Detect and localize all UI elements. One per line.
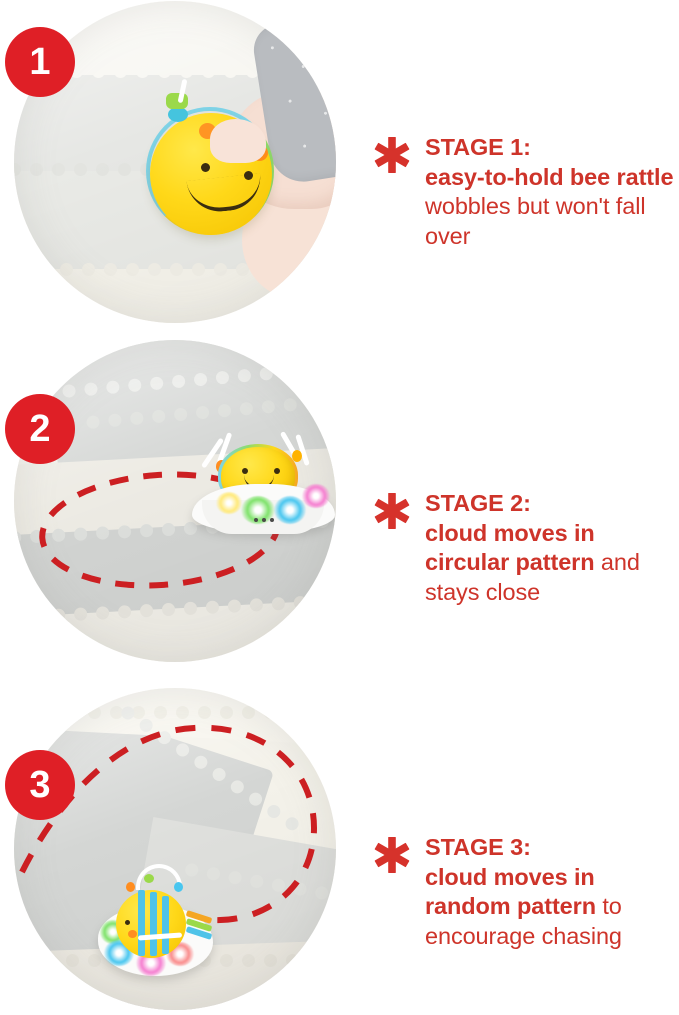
stage-3-copy: STAGE 3: cloud moves in random pattern t… [425, 833, 674, 951]
stage-1-badge: 1 [5, 27, 75, 97]
stage-1-badge-number: 1 [29, 43, 50, 81]
stage-row-3: 3 STAGE 3: cloud moves in random pattern… [0, 678, 679, 1015]
stage-1-copy: STAGE 1: easy-to-hold bee rattle wobbles… [425, 133, 674, 251]
stage-2-bold-text: cloud moves in circular pattern [425, 520, 595, 576]
stage-2-badge-number: 2 [29, 410, 50, 448]
asterisk-icon [374, 137, 410, 173]
asterisk-icon [374, 837, 410, 873]
cloud-toy [98, 868, 218, 978]
stage-2-photo [14, 340, 336, 662]
stage-2-badge: 2 [5, 394, 75, 464]
stage-3-heading: STAGE 3: [425, 834, 531, 860]
stages-infographic: 1 STAGE 1: easy-to-hold bee rattle wobbl… [0, 0, 679, 1015]
stage-2-copy: STAGE 2: cloud moves in circular pattern… [425, 489, 674, 607]
stage-2-heading: STAGE 2: [425, 490, 531, 516]
stage-row-2: 2 STAGE 2: cloud moves in circular patte… [0, 339, 679, 677]
stage-2-text-block: STAGE 2: cloud moves in circular pattern… [374, 489, 674, 607]
stage-3-badge: 3 [5, 750, 75, 820]
stage-1-heading: STAGE 1: [425, 134, 531, 160]
stage-3-photo [14, 688, 336, 1010]
stage-1-regular-text: wobbles but won't fall over [425, 193, 645, 249]
asterisk-icon [374, 493, 410, 529]
stage-row-1: 1 STAGE 1: easy-to-hold bee rattle wobbl… [0, 0, 679, 338]
stage-3-badge-number: 3 [29, 766, 50, 804]
stage-1-bold-text: easy-to-hold bee rattle [425, 164, 673, 190]
stage-3-text-block: STAGE 3: cloud moves in random pattern t… [374, 833, 674, 951]
cloud-toy [192, 422, 336, 537]
stage-3-bold-text: cloud moves in random pattern [425, 864, 596, 920]
stage-1-text-block: STAGE 1: easy-to-hold bee rattle wobbles… [374, 133, 674, 251]
